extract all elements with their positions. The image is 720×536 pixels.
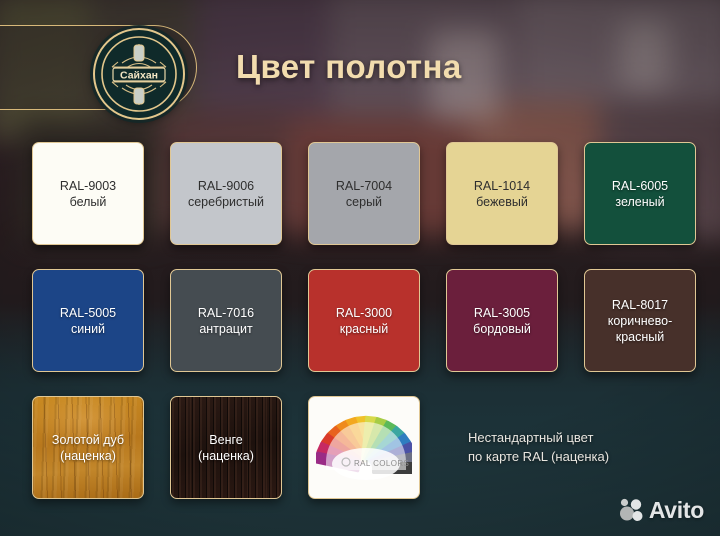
avito-watermark: Avito xyxy=(619,497,704,524)
swatch-code: RAL-9003 xyxy=(60,178,116,194)
swatch-name: бордовый xyxy=(473,321,531,337)
swatch-code: RAL-7004 xyxy=(336,178,392,194)
swatch-row-3: Золотой дуб (наценка) Венге (наценка) xyxy=(32,396,692,499)
swatch-row-2: RAL-5005 синий RAL-7016 антрацит RAL-300… xyxy=(32,269,692,372)
swatch-label: RAL-9006 серебристый xyxy=(183,178,269,210)
swatch-label: RAL-3005 бордовый xyxy=(468,305,536,337)
swatch-code: RAL-8017 xyxy=(608,297,672,313)
avito-wordmark: Avito xyxy=(649,497,704,524)
swatch-name: антрацит xyxy=(198,321,254,337)
swatch-code: Венге xyxy=(198,432,254,448)
swatch-code: RAL-7016 xyxy=(198,305,254,321)
swatch-name: серый xyxy=(336,194,392,210)
swatch-wenge[interactable]: Венге (наценка) xyxy=(170,396,282,499)
swatch-ral-7016[interactable]: RAL-7016 антрацит xyxy=(170,269,282,372)
swatch-ral-9006[interactable]: RAL-9006 серебристый xyxy=(170,142,282,245)
ral-color-fan-card[interactable]: RAL COLORS xyxy=(308,396,420,499)
swatch-code: RAL-1014 xyxy=(474,178,530,194)
swatch-code: Золотой дуб xyxy=(52,432,124,448)
swatch-label: RAL-8017 коричнево- красный xyxy=(603,297,677,345)
swatch-label: RAL-6005 зеленый xyxy=(607,178,673,210)
page-title: Цвет полотна xyxy=(236,48,462,86)
swatch-ral-3005[interactable]: RAL-3005 бордовый xyxy=(446,269,558,372)
swatch-name: синий xyxy=(60,321,116,337)
swatch-label: RAL-3000 красный xyxy=(331,305,397,337)
ral-color-fan-icon: RAL COLORS xyxy=(316,404,412,492)
swatch-code: RAL-3005 xyxy=(473,305,531,321)
swatch-name: бежевый xyxy=(474,194,530,210)
swatch-ral-6005[interactable]: RAL-6005 зеленый xyxy=(584,142,696,245)
swatch-ral-3000[interactable]: RAL-3000 красный xyxy=(308,269,420,372)
swatch-code: RAL-5005 xyxy=(60,305,116,321)
swatch-name: серебристый xyxy=(188,194,264,210)
swatch-name: (наценка) xyxy=(198,448,254,464)
swatch-ral-8017[interactable]: RAL-8017 коричнево- красный xyxy=(584,269,696,372)
fan-card-label: RAL COLORS xyxy=(354,459,409,468)
saikhan-logo-icon: Сайхан xyxy=(93,28,185,120)
swatch-code: RAL-9006 xyxy=(188,178,264,194)
poster: Сайхан Цвет полотна RAL-9003 белый RAL-9… xyxy=(0,0,720,536)
swatch-label: RAL-9003 белый xyxy=(55,178,121,210)
swatch-label: RAL-5005 синий xyxy=(55,305,121,337)
avito-dots-icon xyxy=(619,498,644,523)
swatch-name: белый xyxy=(60,194,116,210)
swatch-label: RAL-1014 бежевый xyxy=(469,178,535,210)
swatch-name: зеленый xyxy=(612,194,668,210)
swatch-row-1: RAL-9003 белый RAL-9006 серебристый RAL-… xyxy=(32,142,692,245)
swatch-label: RAL-7016 антрацит xyxy=(193,305,259,337)
swatch-name: коричнево- красный xyxy=(608,313,672,345)
logo-text: Сайхан xyxy=(120,69,158,81)
swatch-name: красный xyxy=(336,321,392,337)
swatch-code: RAL-6005 xyxy=(612,178,668,194)
swatch-label: RAL-7004 серый xyxy=(331,178,397,210)
swatch-golden-oak[interactable]: Золотой дуб (наценка) xyxy=(32,396,144,499)
swatch-ral-9003[interactable]: RAL-9003 белый xyxy=(32,142,144,245)
swatch-ral-1014[interactable]: RAL-1014 бежевый xyxy=(446,142,558,245)
swatch-code: RAL-3000 xyxy=(336,305,392,321)
swatch-ral-7004[interactable]: RAL-7004 серый xyxy=(308,142,420,245)
custom-color-note: Нестандартный цвет по карте RAL (наценка… xyxy=(468,396,609,499)
swatch-name: (наценка) xyxy=(52,448,124,464)
swatch-label: Золотой дуб (наценка) xyxy=(47,432,129,464)
swatch-ral-5005[interactable]: RAL-5005 синий xyxy=(32,269,144,372)
swatch-label: Венге (наценка) xyxy=(193,432,259,464)
color-grid: RAL-9003 белый RAL-9006 серебристый RAL-… xyxy=(32,142,692,523)
